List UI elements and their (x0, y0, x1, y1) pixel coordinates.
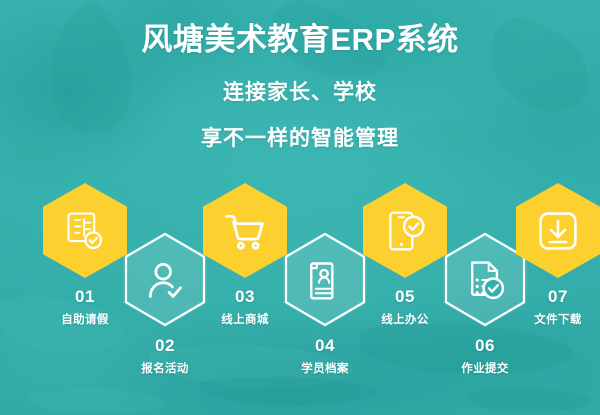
feature-label: 文件下载 (510, 311, 600, 327)
banner-root: 风塘美术教育ERP系统 连接家长、学校 享不一样的智能管理 01自助请假 02报… (0, 0, 600, 415)
feature-hexagon-04[interactable] (283, 232, 367, 327)
feature-number: 04 (277, 336, 373, 356)
feature-label: 作业提交 (437, 360, 533, 376)
student-record-document-icon (303, 258, 347, 302)
feature-hexagon-05[interactable] (363, 183, 447, 278)
person-check-icon (143, 258, 187, 302)
feature-number: 02 (117, 336, 213, 356)
shopping-cart-icon (223, 209, 267, 253)
feature-hexagon-07[interactable] (516, 183, 600, 278)
feature-hexagon-02[interactable] (123, 232, 207, 327)
feature-item-07[interactable]: 07文件下载 (510, 183, 600, 327)
feature-number: 06 (437, 336, 533, 356)
leave-request-check-icon (63, 209, 107, 253)
feature-label: 学员档案 (277, 360, 373, 376)
feature-hexagon-03[interactable] (203, 183, 287, 278)
feature-hexagon-01[interactable] (43, 183, 127, 278)
download-box-icon (536, 209, 580, 253)
feature-hexagon-row: 01自助请假 02报名活动 03线上商城 04学员档案 05线上办公 (0, 0, 600, 415)
feature-number: 07 (510, 287, 600, 307)
feature-label: 报名活动 (117, 360, 213, 376)
checklist-document-check-icon (463, 258, 507, 302)
mobile-phone-check-icon (383, 209, 427, 253)
